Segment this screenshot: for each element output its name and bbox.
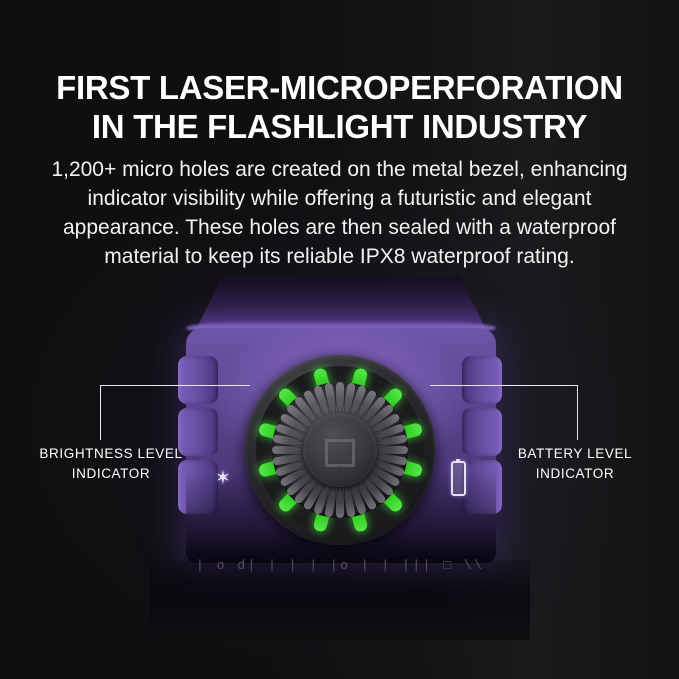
callout-battery-level-indicator: BATTERY LEVEL INDICATOR xyxy=(490,444,660,484)
brand-logo-icon xyxy=(325,439,355,461)
callout-right-line-1: BATTERY LEVEL xyxy=(490,444,660,464)
flashlight-fin-right-1 xyxy=(462,356,502,404)
flashlight-illustration: ✶ | o d| | | | |o | | ||| □ \\ \\ ||o( |… xyxy=(0,0,679,679)
bezel-center-hub xyxy=(303,413,377,487)
brightness-icon: ✶ xyxy=(213,466,233,492)
callout-left-line-2: INDICATOR xyxy=(18,464,204,484)
leader-line-left-horizontal xyxy=(100,385,250,386)
callout-right-line-2: INDICATOR xyxy=(490,464,660,484)
product-feature-image: FIRST LASER-MICROPERFORATION IN THE FLAS… xyxy=(0,0,679,679)
leader-line-right-vertical xyxy=(577,385,578,440)
leader-line-right-horizontal xyxy=(430,385,578,386)
battery-icon xyxy=(451,461,466,496)
leader-line-left-vertical xyxy=(100,385,101,440)
callout-brightness-level-indicator: BRIGHTNESS LEVEL INDICATOR xyxy=(18,444,204,484)
flashlight-fin-left-1 xyxy=(178,356,218,404)
flashlight-bottom-fade xyxy=(150,560,530,640)
callout-left-line-1: BRIGHTNESS LEVEL xyxy=(18,444,204,464)
